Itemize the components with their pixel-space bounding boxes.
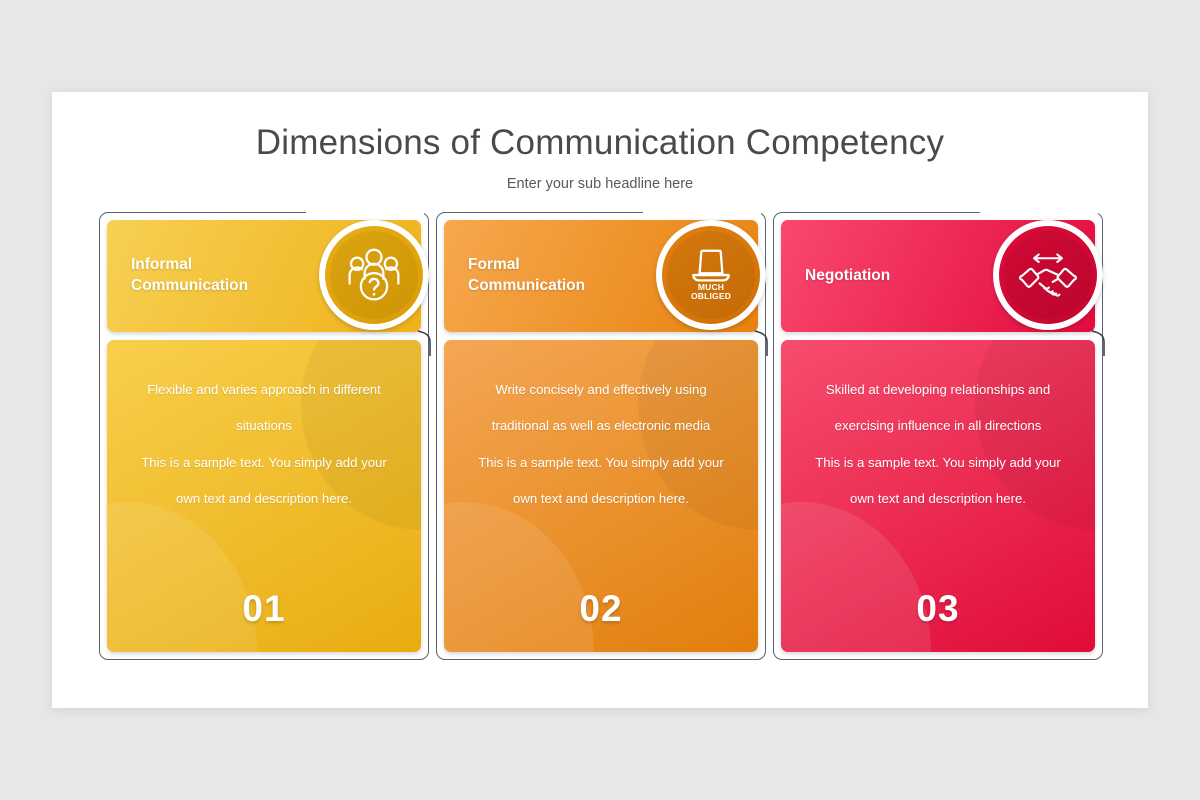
card-body: Flexible and varies approach in differen… [107, 340, 421, 652]
card-number: 02 [444, 588, 758, 630]
badge-inner [999, 226, 1097, 324]
card-description: Flexible and varies approach in differen… [107, 340, 421, 517]
card-number: 03 [781, 588, 1095, 630]
card-informal-communication[interactable]: Informal Communication [99, 212, 429, 660]
people-question-icon [343, 244, 405, 306]
slide-canvas: Dimensions of Communication Competency E… [52, 92, 1148, 708]
card-number: 01 [107, 588, 421, 630]
card-icon-badge[interactable]: MUCH OBLIGED [656, 220, 766, 330]
badge-inner: MUCH OBLIGED [662, 226, 760, 324]
cards-row: Informal Communication [52, 212, 1148, 662]
card-title: Formal Communication [468, 255, 640, 297]
card-body: Write concisely and effectively using tr… [444, 340, 758, 652]
card-body: Skilled at developing relationships and … [781, 340, 1095, 652]
card-icon-badge[interactable] [319, 220, 429, 330]
card-icon-badge[interactable] [993, 220, 1103, 330]
hat-label: MUCH OBLIGED [662, 283, 760, 302]
card-formal-communication[interactable]: Formal Communication MUCH OBLIGED [436, 212, 766, 660]
page-subtitle: Enter your sub headline here [52, 163, 1148, 192]
card-negotiation[interactable]: Negotiation [773, 212, 1103, 660]
handshake-arrows-icon [1017, 244, 1079, 306]
card-description: Skilled at developing relationships and … [781, 340, 1095, 517]
page-title: Dimensions of Communication Competency [52, 92, 1148, 163]
badge-inner [325, 226, 423, 324]
slide-header: Dimensions of Communication Competency E… [52, 92, 1148, 192]
card-title: Negotiation [805, 266, 977, 287]
card-description: Write concisely and effectively using tr… [444, 340, 758, 517]
card-title: Informal Communication [131, 255, 303, 297]
